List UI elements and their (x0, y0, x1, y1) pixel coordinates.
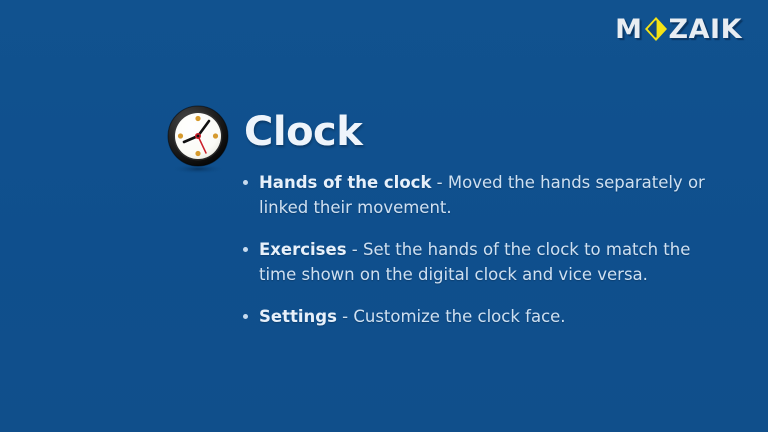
feature-term: Hands of the clock (259, 173, 431, 192)
slide-canvas: M ZAIK mozaTools (0, 0, 768, 432)
feature-term: Settings (259, 307, 337, 326)
list-item: Hands of the clock - Moved the hands sep… (241, 170, 719, 220)
bullet-icon (243, 247, 248, 252)
logo-text-prefix: M (615, 16, 642, 43)
mozaik-diamond-icon (644, 16, 668, 42)
bullet-icon (243, 314, 248, 319)
list-item: Settings - Customize the clock face. (241, 304, 719, 329)
feature-separator: - (347, 240, 363, 259)
logo-text-suffix: ZAIK (669, 16, 742, 43)
feature-term: Exercises (259, 240, 347, 259)
page-title: Clock (244, 108, 362, 156)
mozaik-logo: M ZAIK (615, 14, 742, 44)
list-item: Exercises - Set the hands of the clock t… (241, 237, 719, 287)
feature-list: Hands of the clock - Moved the hands sep… (241, 170, 719, 329)
feature-description: Customize the clock face. (353, 307, 565, 326)
analog-clock-icon (166, 104, 230, 174)
bullet-icon (243, 180, 248, 185)
feature-separator: - (431, 173, 447, 192)
feature-separator: - (337, 307, 353, 326)
